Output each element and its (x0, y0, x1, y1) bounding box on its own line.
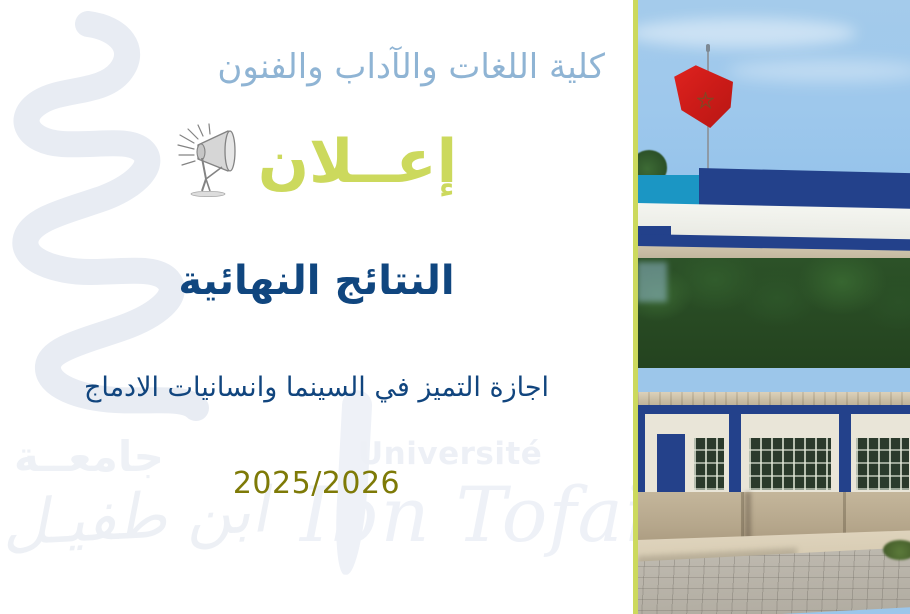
building-arcade (637, 405, 910, 505)
cloud (637, 18, 857, 48)
bush (883, 540, 910, 560)
announcement-heading: إعــلان (258, 132, 457, 192)
building-bay (851, 414, 910, 496)
faculty-title: كلية اللغات والآداب والفنون (0, 46, 605, 89)
content-panel: جامعــة ابن طفيـل Université Ibn Tofaïl … (0, 0, 633, 614)
announcement-row: إعــلان (0, 118, 633, 206)
megaphone-icon (176, 123, 246, 201)
results-title: النتائج النهائية (0, 258, 633, 304)
program-name: اجازة التميز في السينما وانسانيات الادما… (0, 372, 633, 403)
announcement-poster: جامعــة ابن طفيـل Université Ibn Tofaïl … (0, 0, 910, 614)
poster-text-layer: كلية اللغات والآداب والفنون إعــلان (0, 0, 633, 614)
campus-photo (637, 0, 910, 614)
photo-panel (633, 0, 910, 614)
foliage-sky-gap (637, 262, 667, 302)
flagpole-tip (706, 44, 710, 52)
tree-foliage (637, 258, 910, 368)
accent-stripe (633, 0, 638, 614)
window-grille (749, 438, 831, 490)
academic-year: 2025/2026 (0, 466, 633, 501)
building-bay (645, 414, 729, 496)
window-grille (694, 438, 724, 490)
building-bay (741, 414, 839, 496)
window-grille (856, 438, 909, 490)
flag-star-icon (697, 92, 714, 109)
building-door (657, 434, 686, 494)
